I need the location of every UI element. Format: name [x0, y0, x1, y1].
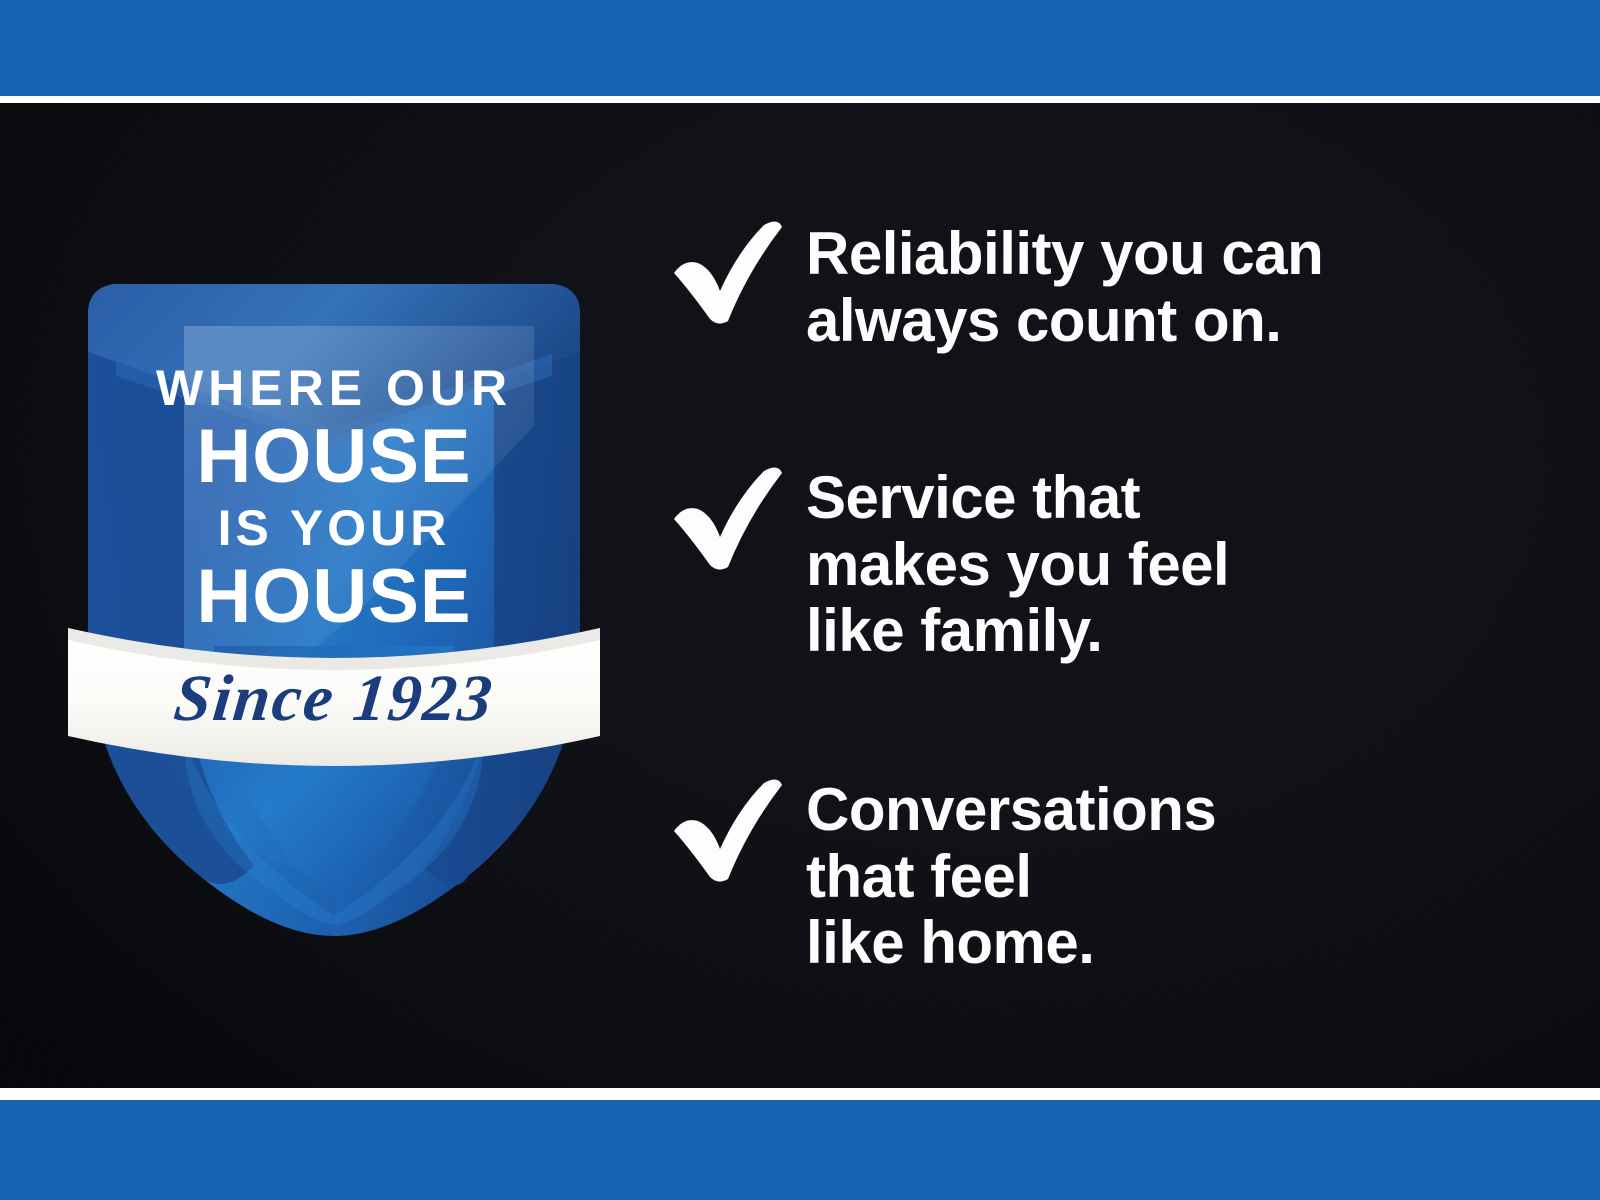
- logo-line-house-2: HOUSE: [64, 559, 604, 635]
- checkmark-icon: [668, 461, 788, 573]
- logo-line-where-our: WHERE OUR: [64, 363, 604, 413]
- checkmark-icon: [668, 773, 788, 885]
- logo-since-script: Since 1923: [61, 666, 608, 732]
- list-item-label: Service that makes you feel like family.: [806, 461, 1229, 665]
- benefits-list: Reliability you can always count on. Ser…: [668, 103, 1528, 1088]
- bottom-brand-bar: [0, 1100, 1600, 1200]
- checkmark-icon: [668, 215, 788, 327]
- logo-line-house-1: HOUSE: [64, 419, 604, 495]
- top-brand-bar: [0, 0, 1600, 96]
- shield-emblem: WHERE OUR HOUSE IS YOUR HOUSE Since 1923: [64, 176, 604, 936]
- list-item: Conversations that feel like home.: [668, 773, 1216, 977]
- promo-graphic: WHERE OUR HOUSE IS YOUR HOUSE Since 1923…: [0, 0, 1600, 1200]
- list-item-label: Conversations that feel like home.: [806, 773, 1216, 977]
- list-item-label: Reliability you can always count on.: [806, 215, 1323, 354]
- logo-line-is-your: IS YOUR: [64, 503, 604, 553]
- list-item: Reliability you can always count on.: [668, 215, 1323, 354]
- list-item: Service that makes you feel like family.: [668, 461, 1229, 665]
